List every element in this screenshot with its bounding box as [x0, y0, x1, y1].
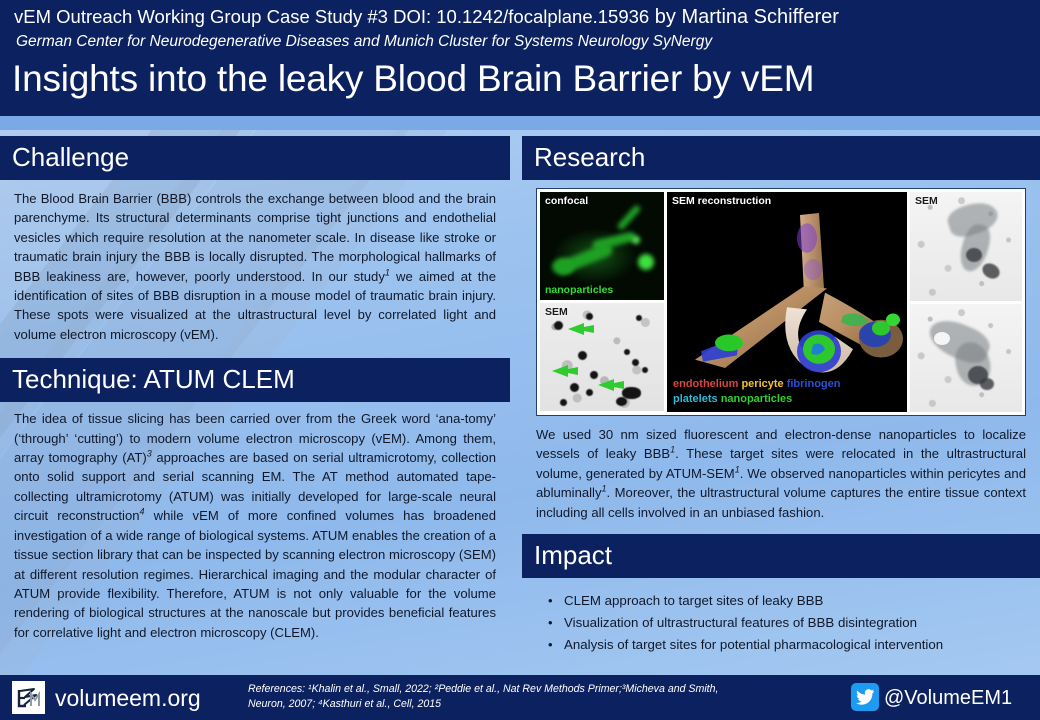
volumeem-site-label[interactable]: volumeem.org: [55, 683, 201, 713]
sem-reconstruction-panel: SEM reconstruction endothelium pericyte …: [667, 192, 907, 412]
header-author: by Martina Schifferer: [649, 6, 839, 28]
technique-text-3: while vEM of more confined volumes has b…: [14, 508, 496, 639]
green-arrow-icon: [552, 365, 578, 377]
impact-bullet-list: CLEM approach to target sites of leaky B…: [522, 578, 1040, 664]
technique-body: The idea of tissue slicing has been carr…: [0, 402, 510, 650]
page-title: Insights into the leaky Blood Brain Barr…: [12, 54, 814, 104]
legend-row-2: platelets nanoparticles: [673, 392, 840, 407]
sem-arrow-overlay: [540, 303, 664, 411]
section-heading-technique: Technique: ATUM CLEM: [0, 358, 510, 402]
twitter-handle-label[interactable]: @VolumeEM1: [884, 684, 1012, 712]
confocal-nanoparticle-spot: [632, 236, 640, 244]
sem-micrograph-top: SEM: [910, 192, 1022, 301]
confocal-panel-label: confocal: [545, 195, 588, 207]
confocal-nanoparticle-spot: [638, 254, 654, 270]
legend-row-1: endothelium pericyte fibrinogen: [673, 377, 840, 392]
confocal-vessel-segment: [552, 258, 574, 275]
right-column: Research confocal nanoparticles: [522, 136, 1040, 664]
figure-left-stack: confocal nanoparticles: [540, 192, 664, 412]
figure-right-stack: SEM: [910, 192, 1022, 412]
impact-bullet: Visualization of ultrastructural feature…: [548, 612, 1026, 634]
sem-micrograph-bottom: [910, 304, 1022, 413]
left-column: Challenge The Blood Brain Barrier (BBB) …: [0, 136, 510, 650]
twitter-icon[interactable]: [851, 683, 879, 711]
sem-micrograph-top-label: SEM: [915, 195, 938, 207]
em-dark-organelle: [966, 248, 982, 262]
reconstruction-panel-label: SEM reconstruction: [672, 195, 771, 207]
poster-header: vEM Outreach Working Group Case Study #3…: [0, 0, 1040, 116]
em-dark-organelle: [980, 378, 994, 390]
references-text: References: ¹Khalin et al., Small, 2022;…: [248, 682, 828, 712]
section-heading-impact: Impact: [522, 534, 1040, 578]
references-line-2: Neuron, 2007; ⁴Kasthuri et al., Cell, 20…: [248, 697, 828, 712]
legend-nanoparticles: nanoparticles: [721, 393, 793, 405]
em-monogram-icon: [16, 685, 42, 711]
legend-pericyte: pericyte: [741, 378, 786, 390]
legend-platelets: platelets: [673, 393, 721, 405]
twitter-bird-icon: [856, 689, 875, 705]
volumeem-logo-icon: [12, 681, 45, 714]
legend-fibrinogen: fibrinogen: [787, 378, 841, 390]
sem-nanoparticle-panel: SEM: [540, 303, 664, 411]
sem-dots-panel-label: SEM: [545, 306, 568, 318]
header-case-study-doi: vEM Outreach Working Group Case Study #3…: [14, 6, 649, 27]
header-accent-strip: [0, 116, 1040, 130]
confocal-fluorescence-panel: confocal nanoparticles: [540, 192, 664, 300]
impact-bullet: CLEM approach to target sites of leaky B…: [548, 590, 1026, 612]
section-heading-challenge: Challenge: [0, 136, 510, 180]
green-arrow-icon: [598, 379, 624, 391]
poster-canvas: vEM Outreach Working Group Case Study #3…: [0, 0, 1040, 720]
references-line-1: References: ¹Khalin et al., Small, 2022;…: [248, 682, 828, 697]
reconstruction-legend: endothelium pericyte fibrinogen platelet…: [673, 377, 840, 407]
header-affiliation: German Center for Neurodegenerative Dise…: [16, 32, 712, 52]
section-heading-research: Research: [522, 136, 1040, 180]
header-eyebrow: vEM Outreach Working Group Case Study #3…: [14, 4, 1029, 30]
research-figure: confocal nanoparticles: [536, 188, 1026, 416]
challenge-body: The Blood Brain Barrier (BBB) controls t…: [0, 180, 510, 352]
research-body: We used 30 nm sized fluorescent and elec…: [522, 416, 1040, 530]
impact-bullet: Analysis of target sites for potential p…: [548, 634, 1026, 656]
poster-footer: volumeem.org References: ¹Khalin et al.,…: [0, 675, 1040, 720]
research-text-4: . Moreover, the ultrastructural volume c…: [536, 485, 1026, 519]
green-arrow-icon: [568, 323, 594, 335]
em-vacuole: [934, 332, 950, 345]
confocal-nanoparticles-caption: nanoparticles: [545, 284, 613, 296]
legend-endothelium: endothelium: [673, 378, 741, 390]
